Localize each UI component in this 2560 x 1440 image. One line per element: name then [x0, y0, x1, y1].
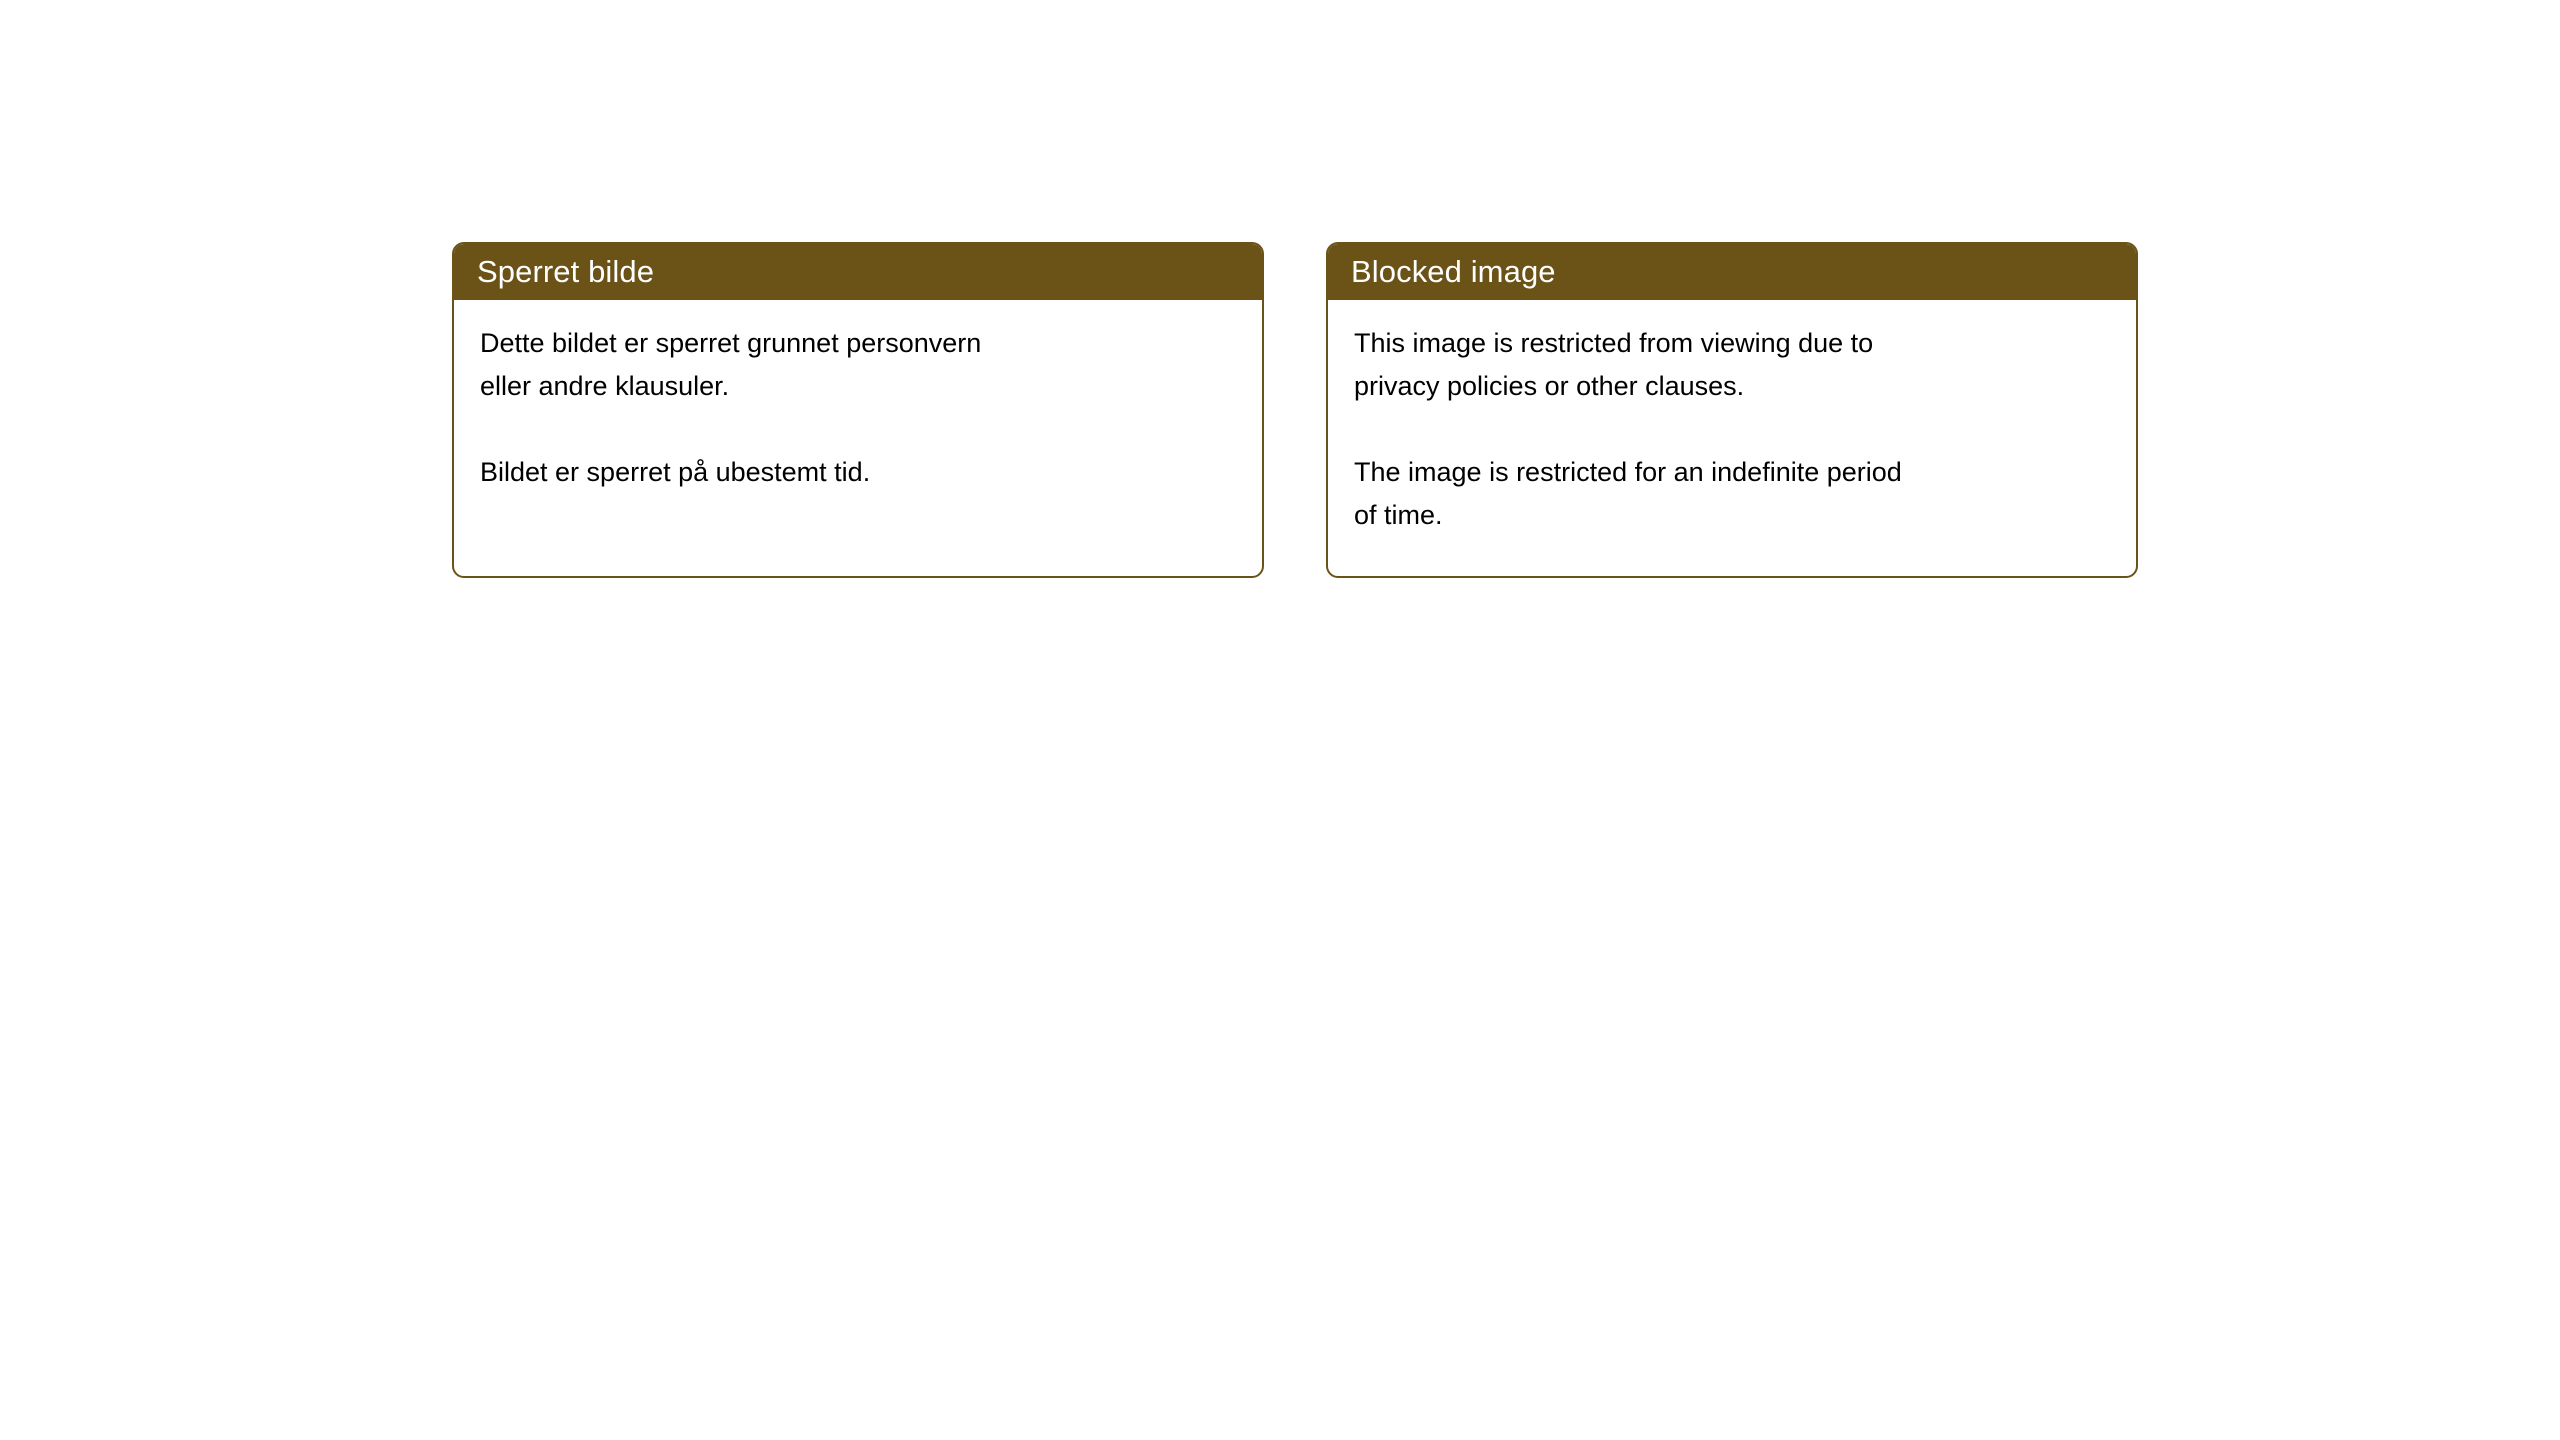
- card-paragraph-restriction-duration-norwegian: Bildet er sperret på ubestemt tid.: [480, 451, 1236, 494]
- card-body-norwegian: Dette bildet er sperret grunnet personve…: [454, 300, 1262, 494]
- card-paragraph-restriction-reason-norwegian: Dette bildet er sperret grunnet personve…: [480, 322, 1236, 408]
- card-header-english: Blocked image: [1326, 242, 2138, 300]
- blocked-image-card-english: Blocked image This image is restricted f…: [1326, 242, 2138, 578]
- card-title-norwegian: Sperret bilde: [477, 256, 654, 287]
- card-paragraph-restriction-reason-english: This image is restricted from viewing du…: [1354, 322, 2110, 408]
- card-header-norwegian: Sperret bilde: [452, 242, 1264, 300]
- card-paragraph-restriction-duration-english: The image is restricted for an indefinit…: [1354, 451, 2110, 537]
- blocked-image-notice-area: Sperret bilde Dette bildet er sperret gr…: [0, 0, 2560, 1440]
- card-title-english: Blocked image: [1351, 256, 1556, 287]
- card-body-english: This image is restricted from viewing du…: [1328, 300, 2136, 537]
- blocked-image-card-norwegian: Sperret bilde Dette bildet er sperret gr…: [452, 242, 1264, 578]
